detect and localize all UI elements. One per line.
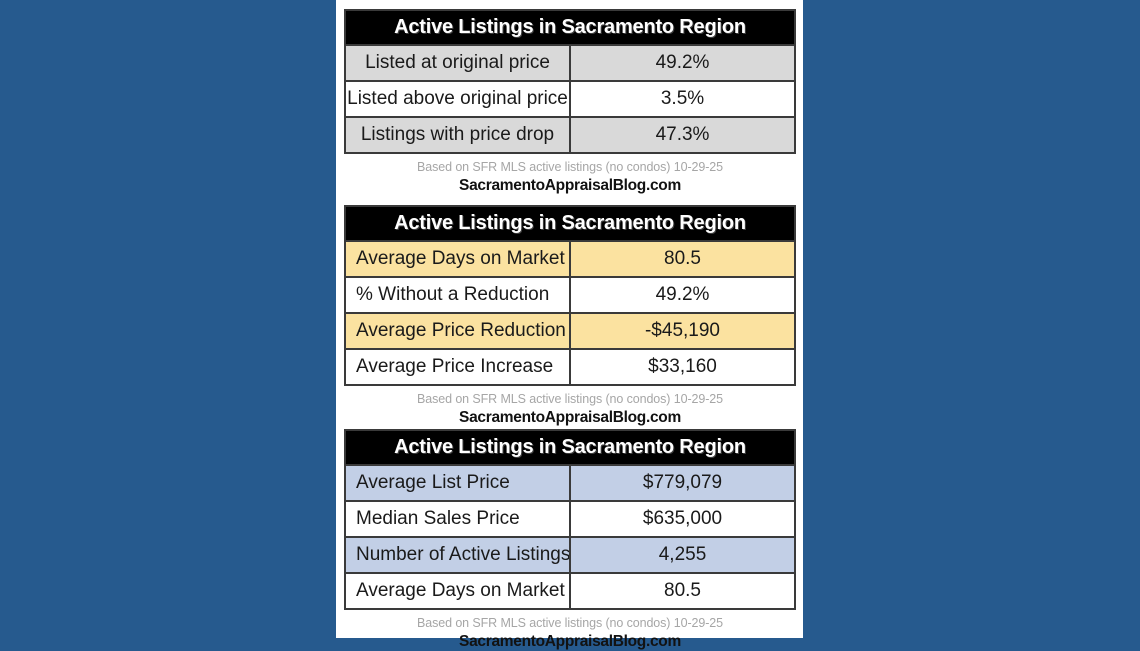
- row-value: -$45,190: [570, 313, 795, 349]
- table-row: Listed at original price 49.2%: [345, 45, 795, 81]
- table-row: Average Price Reduction -$45,190: [345, 313, 795, 349]
- slide-canvas: Active Listings in Sacramento Region Lis…: [0, 0, 1140, 641]
- table-row: Median Sales Price $635,000: [345, 501, 795, 537]
- row-value: 80.5: [570, 573, 795, 609]
- table-footnote: Based on SFR MLS active listings (no con…: [344, 616, 796, 630]
- table-row: Listed above original price 3.5%: [345, 81, 795, 117]
- stat-card-price-position: Active Listings in Sacramento Region Lis…: [344, 9, 796, 195]
- stat-table: Active Listings in Sacramento Region Lis…: [344, 9, 796, 154]
- row-value: $779,079: [570, 465, 795, 501]
- source-website: SacramentoAppraisalBlog.com: [344, 633, 796, 651]
- row-value: 47.3%: [570, 117, 795, 153]
- table-title: Active Listings in Sacramento Region: [345, 430, 795, 465]
- row-label: Average Days on Market: [345, 241, 570, 277]
- table-title: Active Listings in Sacramento Region: [345, 10, 795, 45]
- source-website: SacramentoAppraisalBlog.com: [344, 409, 796, 427]
- table-row: Average Days on Market 80.5: [345, 241, 795, 277]
- table-row: Average Price Increase $33,160: [345, 349, 795, 385]
- table-header-row: Active Listings in Sacramento Region: [345, 10, 795, 45]
- table-row: Average List Price $779,079: [345, 465, 795, 501]
- stat-table: Active Listings in Sacramento Region Ave…: [344, 205, 796, 386]
- row-label: Listed above original price: [345, 81, 570, 117]
- table-footnote: Based on SFR MLS active listings (no con…: [344, 392, 796, 406]
- row-value: 49.2%: [570, 277, 795, 313]
- stat-table: Active Listings in Sacramento Region Ave…: [344, 429, 796, 610]
- table-header-row: Active Listings in Sacramento Region: [345, 206, 795, 241]
- table-title: Active Listings in Sacramento Region: [345, 206, 795, 241]
- source-website: SacramentoAppraisalBlog.com: [344, 177, 796, 195]
- table-header-row: Active Listings in Sacramento Region: [345, 430, 795, 465]
- row-value: 80.5: [570, 241, 795, 277]
- row-label: Average Price Reduction: [345, 313, 570, 349]
- row-label: % Without a Reduction: [345, 277, 570, 313]
- table-footnote: Based on SFR MLS active listings (no con…: [344, 160, 796, 174]
- table-row: Listings with price drop 47.3%: [345, 117, 795, 153]
- row-value: 4,255: [570, 537, 795, 573]
- row-label: Average Days on Market: [345, 573, 570, 609]
- table-row: Number of Active Listings 4,255: [345, 537, 795, 573]
- row-label: Number of Active Listings: [345, 537, 570, 573]
- white-content-panel: Active Listings in Sacramento Region Lis…: [336, 0, 803, 638]
- row-label: Median Sales Price: [345, 501, 570, 537]
- row-label: Listings with price drop: [345, 117, 570, 153]
- row-value: 3.5%: [570, 81, 795, 117]
- table-row: % Without a Reduction 49.2%: [345, 277, 795, 313]
- table-row: Average Days on Market 80.5: [345, 573, 795, 609]
- row-value: $635,000: [570, 501, 795, 537]
- row-value: $33,160: [570, 349, 795, 385]
- row-label: Average Price Increase: [345, 349, 570, 385]
- row-value: 49.2%: [570, 45, 795, 81]
- stat-card-prices-counts: Active Listings in Sacramento Region Ave…: [344, 429, 796, 651]
- stat-card-market-time-reductions: Active Listings in Sacramento Region Ave…: [344, 205, 796, 427]
- row-label: Listed at original price: [345, 45, 570, 81]
- row-label: Average List Price: [345, 465, 570, 501]
